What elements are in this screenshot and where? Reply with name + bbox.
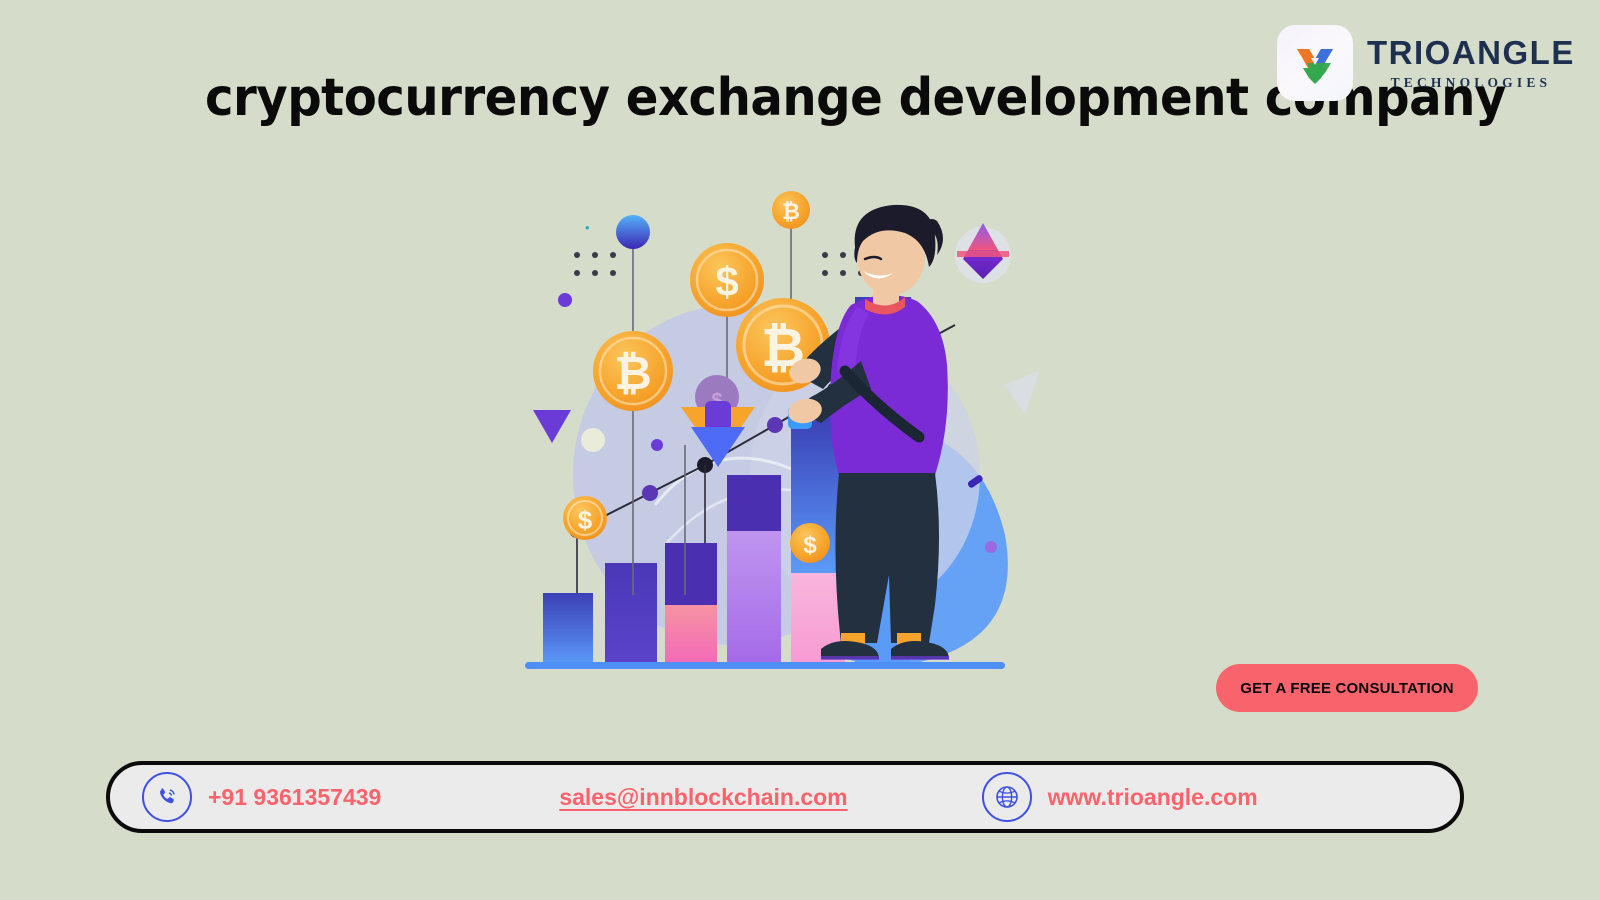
svg-text:$: $ (578, 505, 593, 535)
dot-grid-left (574, 252, 616, 276)
promo-banner: cryptocurrency exchange development comp… (0, 0, 1600, 900)
get-free-consultation-button[interactable]: GET A FREE CONSULTATION (1216, 664, 1478, 712)
svg-text:$: $ (715, 258, 738, 305)
bar-1 (543, 593, 593, 665)
bar-3-cap (665, 543, 717, 605)
dot-purple-mid (651, 439, 663, 451)
contact-email[interactable]: sales@innblockchain.com (559, 784, 847, 811)
brand-tagline: TECHNOLOGIES (1391, 76, 1552, 90)
svg-text:$: $ (803, 532, 817, 559)
phone-ring-icon (142, 772, 192, 822)
bar-4-cap (727, 475, 781, 531)
brand-wordmark: TRIOANGLE TECHNOLOGIES (1367, 36, 1575, 90)
ethereum-icon (955, 223, 1011, 283)
trioangle-triangle-logo-icon (1277, 25, 1353, 101)
contact-email-value[interactable]: sales@innblockchain.com (559, 784, 847, 811)
contact-bar: +91 9361357439 sales@innblockchain.com w… (106, 761, 1464, 833)
globe-icon (982, 772, 1032, 822)
dollar-coin-right: $ (790, 523, 830, 563)
bitcoin-coin-medium: ₿ (593, 331, 673, 411)
bar-2 (605, 563, 657, 665)
contact-website-value[interactable]: www.trioangle.com (1048, 784, 1258, 811)
brand-logo[interactable]: TRIOANGLE TECHNOLOGIES (1277, 25, 1575, 101)
contact-phone-value: +91 9361357439 (208, 784, 381, 811)
dot-purple-right (985, 541, 997, 553)
svg-text:•: • (585, 220, 590, 235)
dollar-coin-small: $ (563, 496, 607, 540)
bitcoin-coin-tiny: ₿ (772, 191, 810, 229)
svg-text:₿: ₿ (614, 347, 652, 399)
circle-cream (581, 428, 605, 452)
svg-text:₿: ₿ (782, 199, 800, 224)
triangle-purple-left (533, 410, 571, 443)
contact-website[interactable]: www.trioangle.com (982, 772, 1258, 822)
balloon-blue (616, 215, 650, 249)
dot-purple-left (558, 293, 572, 307)
brand-name: TRIOANGLE (1367, 36, 1575, 69)
crypto-investor-illustration: • (505, 175, 1045, 675)
dollar-coin-top: $ (690, 243, 764, 317)
contact-phone[interactable]: +91 9361357439 (142, 772, 381, 822)
triangle-grey-right (1005, 370, 1040, 415)
ground-line (805, 662, 1005, 669)
